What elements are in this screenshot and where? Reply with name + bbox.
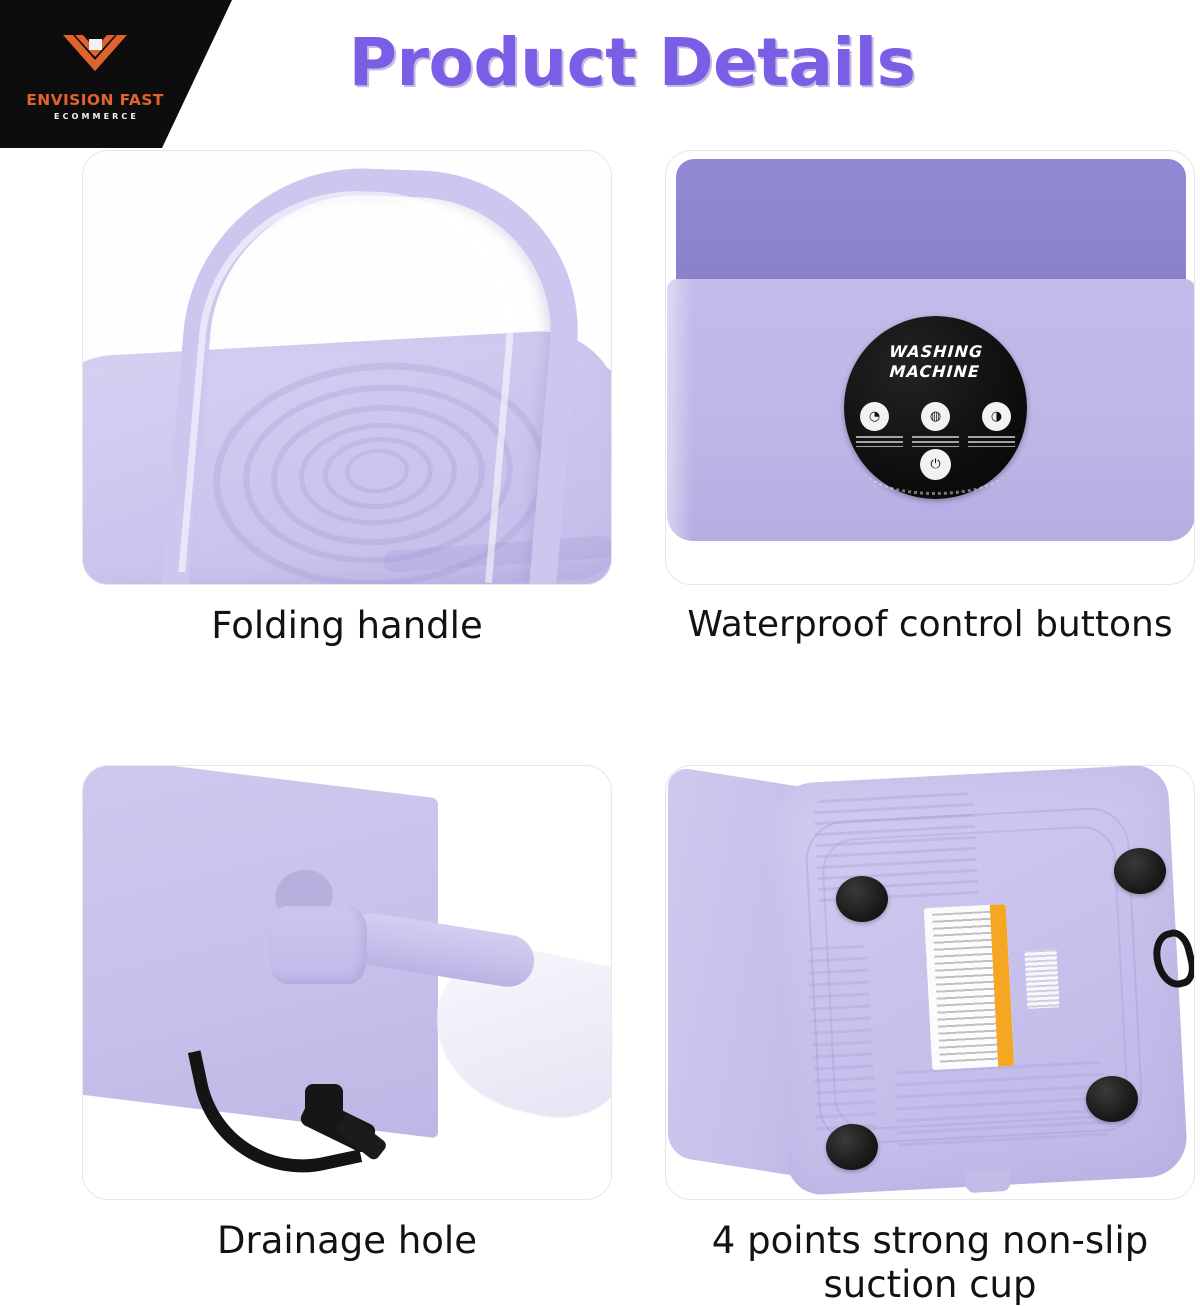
photo-drainage-hole <box>82 765 612 1200</box>
suction-cup-top-left <box>836 876 888 922</box>
underside-ribs-bottom <box>894 1061 1108 1152</box>
chevron-logo-icon <box>59 31 131 91</box>
brand-tagline: ECOMMERCE <box>51 113 139 121</box>
machine-top-lid <box>676 159 1186 289</box>
details-grid: Folding handle WASHING MACHINE ◔ ◍ ◑ <box>82 150 1195 1306</box>
underside-ribs-left <box>807 945 877 1138</box>
suction-cup-top-right <box>1114 848 1166 894</box>
suction-cup-bottom-right <box>1086 1076 1138 1122</box>
brand-banner: ENVISION FAST ECOMMERCE <box>0 0 232 148</box>
detail-item-folding-handle: Folding handle <box>82 150 612 647</box>
caption-control-buttons: Waterproof control buttons <box>665 604 1195 646</box>
panel-brand-text: WASHING MACHINE <box>843 342 1029 381</box>
photo-control-buttons: WASHING MACHINE ◔ ◍ ◑ ⏻ <box>665 150 1195 585</box>
product-label <box>924 904 1014 1070</box>
spin-mode-button[interactable]: ◍ <box>921 402 950 431</box>
caption-drainage-hole: Drainage hole <box>82 1219 612 1262</box>
timer-button[interactable]: ◑ <box>982 402 1011 431</box>
detail-item-control-buttons: WASHING MACHINE ◔ ◍ ◑ ⏻ Waterproof contr… <box>665 150 1195 647</box>
wash-mode-button[interactable]: ◔ <box>860 402 889 431</box>
control-panel: WASHING MACHINE ◔ ◍ ◑ ⏻ <box>844 316 1027 499</box>
caption-folding-handle: Folding handle <box>82 604 612 647</box>
detail-item-drainage-hole: Drainage hole <box>82 765 612 1306</box>
caption-suction-cups: 4 points strong non-slip suction cup <box>665 1219 1195 1306</box>
drain-boss <box>269 906 367 984</box>
brand-name: ENVISION FAST <box>26 93 164 109</box>
detail-item-suction-cups: 4 points strong non-slip suction cup <box>665 765 1195 1306</box>
photo-suction-cups <box>665 765 1195 1200</box>
control-button-row: ◔ ◍ ◑ <box>860 402 1011 431</box>
power-button[interactable]: ⏻ <box>920 449 951 480</box>
panel-brand-line2: MACHINE <box>843 362 1027 382</box>
page-title: Product Details <box>232 28 1032 97</box>
underside-foot-tab <box>965 1169 1010 1193</box>
secondary-sticker <box>1025 949 1060 1009</box>
photo-folding-handle <box>82 150 612 585</box>
panel-brand-line1: WASHING <box>844 342 1028 362</box>
